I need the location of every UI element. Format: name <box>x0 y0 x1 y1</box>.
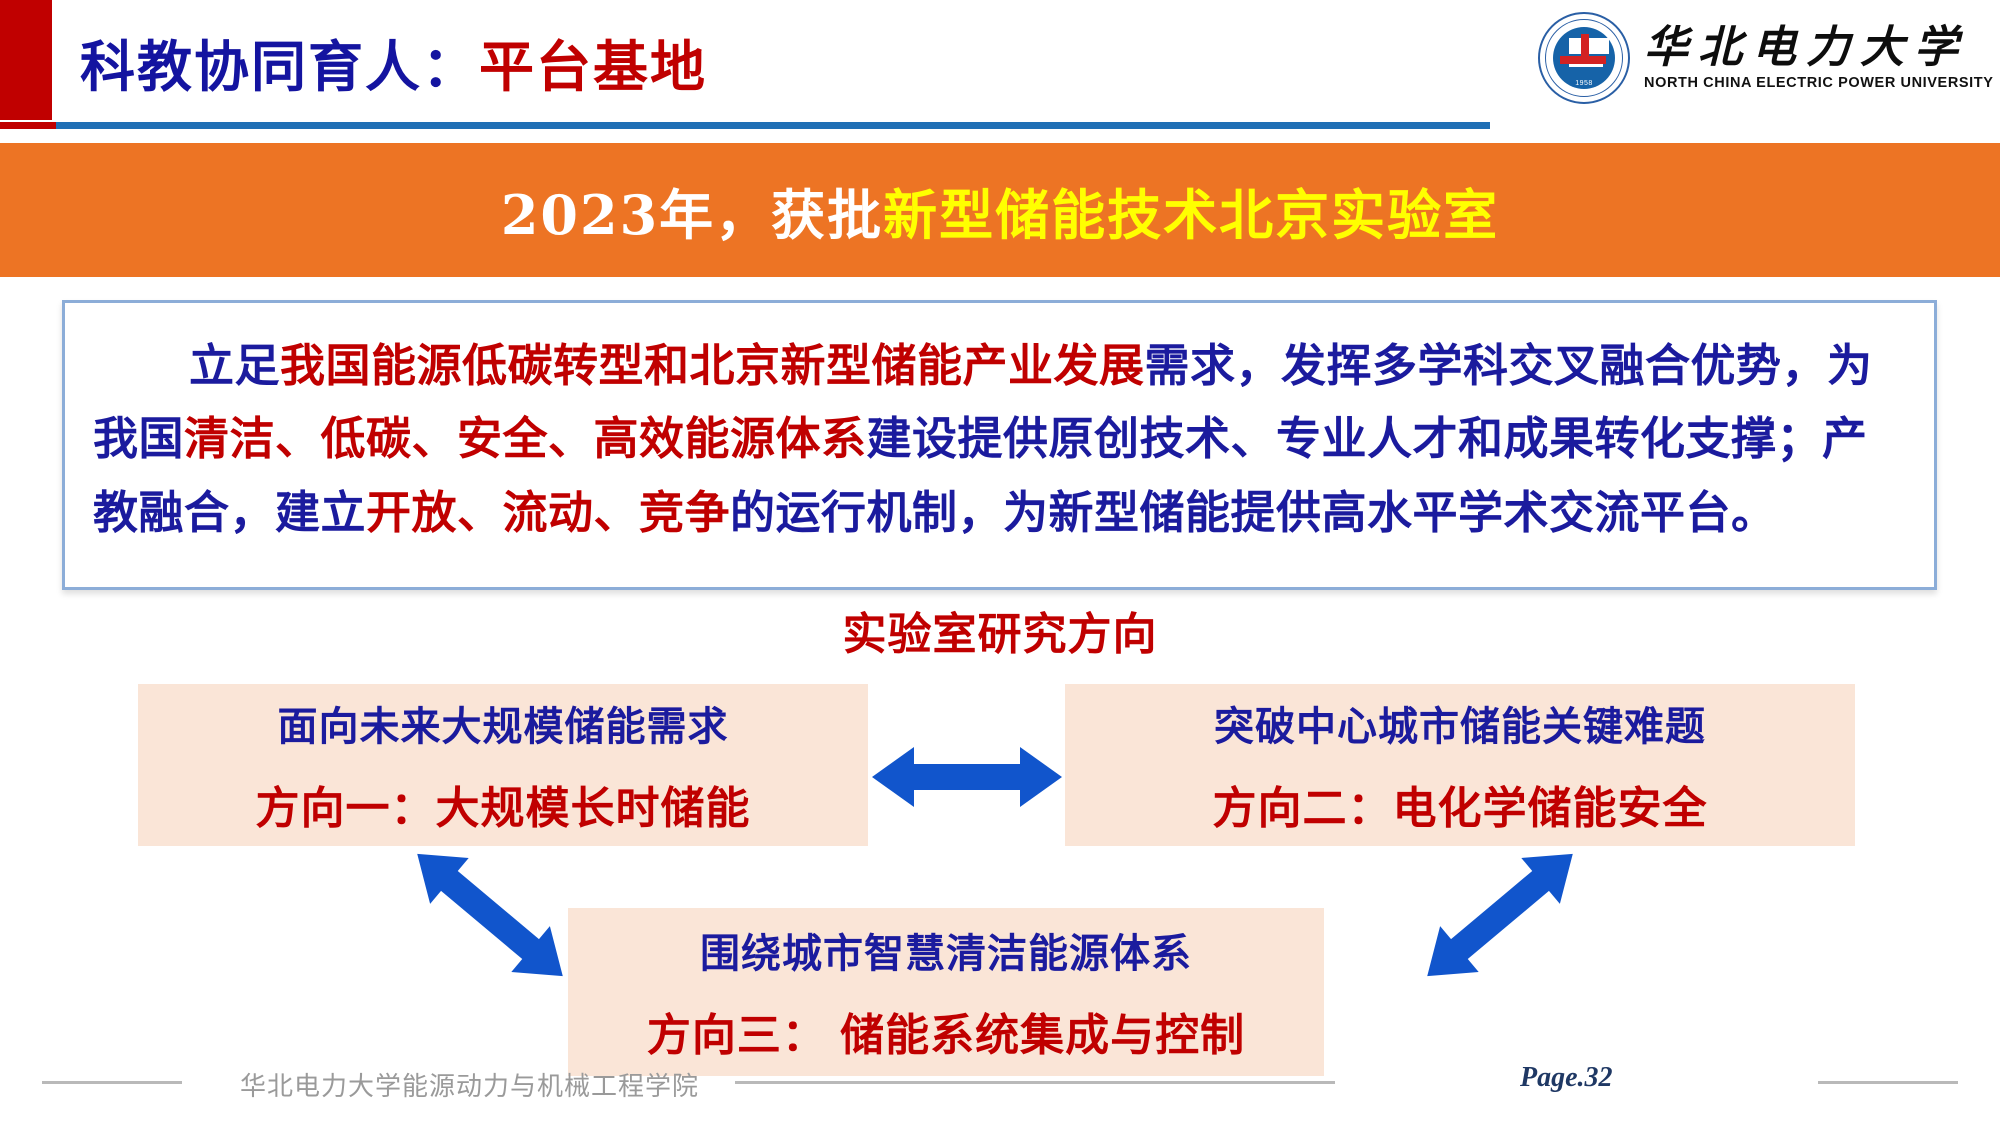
university-name-cn: 华北电力大学 <box>1644 26 1994 70</box>
direction-2-goal: 突破中心城市储能关键难题 <box>1214 694 1706 752</box>
university-name-en: NORTH CHINA ELECTRIC POWER UNIVERSITY <box>1644 75 1994 91</box>
description-run-red: 清洁、低碳、安全、高效能源体系 <box>184 413 867 464</box>
direction-2-title: 方向二：电化学储能安全 <box>1213 772 1708 836</box>
description-panel: 立足我国能源低碳转型和北京新型储能产业发展需求，发挥多学科交叉融合优势，为我国清… <box>62 300 1937 590</box>
header-rule-red-cap <box>0 122 56 129</box>
double-arrow-diagonal-right-icon <box>1400 850 1600 980</box>
header-blue-rule <box>0 122 1490 129</box>
description-run-blue: 教融合，建立 <box>93 487 366 538</box>
direction-3-goal: 围绕城市智慧清洁能源体系 <box>700 921 1192 979</box>
slide: 科教协同育人： 平台基地 1958 华北电力大学 NORTH CHINA ELE… <box>0 0 2000 1125</box>
page-title-secondary: 平台基地 <box>479 22 707 102</box>
header-red-accent-bar <box>0 0 52 120</box>
direction-card-2: 突破中心城市储能关键难题 方向二：电化学储能安全 <box>1065 684 1855 846</box>
description-run-blue: 需求，发挥多学科交叉融合优势，为 <box>1145 340 1873 391</box>
description-run-blue: 立足 <box>189 340 280 391</box>
description-line-3: 教融合，建立开放、流动、竞争的运行机制，为新型储能提供高水平学术交流平台。 <box>93 476 1911 549</box>
emblem-year: 1958 <box>1538 80 1630 87</box>
footer-school-name: 华北电力大学能源动力与机械工程学院 <box>240 1066 699 1103</box>
direction-card-1: 面向未来大规模储能需求 方向一：大规模长时储能 <box>138 684 868 846</box>
banner-text-highlight: 新型储能技术北京实验室 <box>883 183 1499 247</box>
page-number: Page.32 <box>1520 1062 1613 1094</box>
description-run-blue: 建设提供原创技术、专业人才和成果转化支撑；产 <box>867 413 1868 464</box>
footer-rule-right <box>1818 1081 1958 1084</box>
section-heading: 实验室研究方向 <box>0 598 2000 662</box>
university-logo: 1958 华北电力大学 NORTH CHINA ELECTRIC POWER U… <box>1538 8 1978 108</box>
description-text: 立足我国能源低碳转型和北京新型储能产业发展需求，发挥多学科交叉融合优势，为我国清… <box>93 329 1911 549</box>
double-arrow-diagonal-left-icon <box>390 850 590 980</box>
footer-rule-middle <box>735 1081 1335 1084</box>
direction-3-title: 方向三： 储能系统集成与控制 <box>647 999 1245 1063</box>
direction-1-title: 方向一：大规模长时储能 <box>256 772 751 836</box>
double-arrow-horizontal-icon <box>872 742 1062 812</box>
description-run-blue: 我国 <box>93 413 184 464</box>
university-emblem-icon: 1958 <box>1538 12 1630 104</box>
banner-text-white: 2023年，获批 <box>501 183 883 247</box>
description-run-red: 开放、流动、竞争 <box>366 487 730 538</box>
direction-card-3: 围绕城市智慧清洁能源体系 方向三： 储能系统集成与控制 <box>568 908 1324 1076</box>
page-title: 科教协同育人： 平台基地 <box>80 12 1380 112</box>
announcement-banner: 2023年，获批新型储能技术北京实验室 <box>0 143 2000 277</box>
direction-1-goal: 面向未来大规模储能需求 <box>278 694 729 752</box>
page-title-primary: 科教协同育人： <box>80 22 479 102</box>
description-line-1: 立足我国能源低碳转型和北京新型储能产业发展需求，发挥多学科交叉融合优势，为 <box>93 329 1911 402</box>
description-line-2: 我国清洁、低碳、安全、高效能源体系建设提供原创技术、专业人才和成果转化支撑；产 <box>93 402 1911 475</box>
description-run-blue: 的运行机制，为新型储能提供高水平学术交流平台。 <box>730 487 1777 538</box>
footer-rule-left <box>42 1081 182 1084</box>
description-run-red: 我国能源低碳转型和北京新型储能产业发展 <box>280 340 1145 391</box>
